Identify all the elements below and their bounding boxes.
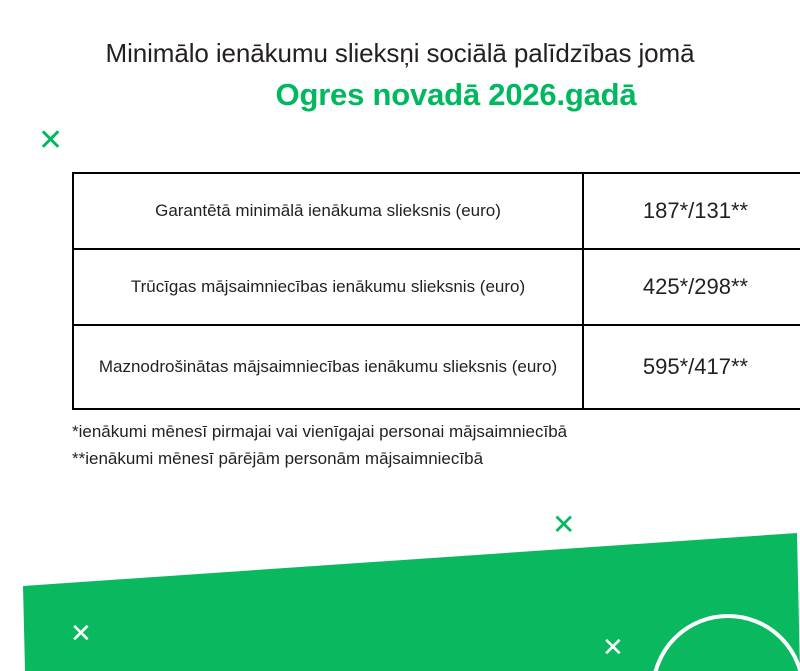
table-row: Garantētā minimālā ienākuma slieksnis (e… <box>73 173 800 249</box>
bottom-green-band <box>0 491 800 671</box>
footnote-single-star: *ienākumi mēnesī pirmajai vai vienīgajai… <box>72 418 567 445</box>
title-line-primary: Minimālo ienākumu slieksņi sociālā palīd… <box>0 36 800 70</box>
x-mark-icon: ✕ <box>602 634 624 660</box>
threshold-label: Trūcīgas mājsaimniecības ienākumu slieks… <box>73 249 583 325</box>
infographic-canvas: Minimālo ienākumu slieksņi sociālā palīd… <box>0 0 800 671</box>
threshold-value: 425*/298** <box>583 249 800 325</box>
threshold-value: 187*/131** <box>583 173 800 249</box>
title-line-secondary: Ogres novadā 2026.gadā <box>0 76 800 114</box>
x-mark-icon: ✕ <box>38 126 63 156</box>
footnotes: *ienākumi mēnesī pirmajai vai vienīgajai… <box>72 418 567 472</box>
thresholds-table: Garantētā minimālā ienākuma slieksnis (e… <box>72 172 731 410</box>
x-mark-icon: ✕ <box>70 620 92 646</box>
threshold-label: Maznodrošinātas mājsaimniecības ienākumu… <box>73 325 583 409</box>
page-title: Minimālo ienākumu slieksņi sociālā palīd… <box>0 36 800 114</box>
x-mark-icon: ✕ <box>552 511 575 539</box>
green-band-shape <box>23 533 800 671</box>
threshold-label: Garantētā minimālā ienākuma slieksnis (e… <box>73 173 583 249</box>
circle-outline-icon <box>653 616 800 671</box>
footnote-double-star: **ienākumi mēnesī pārējām personām mājsa… <box>72 445 567 472</box>
threshold-value: 595*/417** <box>583 325 800 409</box>
table-row: Maznodrošinātas mājsaimniecības ienākumu… <box>73 325 800 409</box>
table-row: Trūcīgas mājsaimniecības ienākumu slieks… <box>73 249 800 325</box>
